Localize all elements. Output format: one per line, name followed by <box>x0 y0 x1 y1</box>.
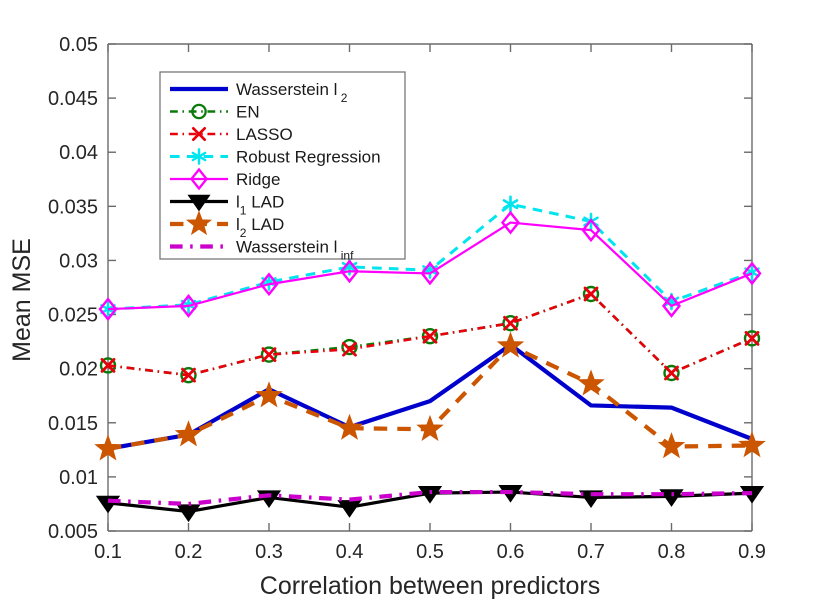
x-tick-label: 0.4 <box>336 541 364 563</box>
chart-background <box>0 0 830 601</box>
legend-label-lasso: LASSO <box>236 125 293 144</box>
x-tick-label: 0.3 <box>255 541 283 563</box>
chart-legend: Wasserstein l 2ENLASSORobust RegressionR… <box>160 72 405 263</box>
y-tick-label: 0.035 <box>48 196 98 218</box>
legend-subscript: 2 <box>337 91 347 105</box>
legend-label-tail: LAD <box>246 215 284 234</box>
x-axis-title: Correlation between predictors <box>260 572 600 600</box>
x-tick-label: 0.9 <box>738 541 766 563</box>
mean-mse-line-chart: 0.0050.010.0150.020.0250.030.0350.040.04… <box>0 0 830 601</box>
y-tick-label: 0.015 <box>48 413 98 435</box>
chart-container: 0.0050.010.0150.020.0250.030.0350.040.04… <box>0 0 830 601</box>
y-axis-title: Mean MSE <box>8 238 36 362</box>
x-tick-label: 0.6 <box>497 541 525 563</box>
x-tick-label: 0.1 <box>94 541 122 563</box>
y-tick-label: 0.045 <box>48 88 98 110</box>
x-tick-label: 0.7 <box>577 541 605 563</box>
legend-label-ridge: Ridge <box>236 170 280 189</box>
y-tick-label: 0.01 <box>59 467 98 489</box>
y-tick-label: 0.02 <box>59 359 98 381</box>
y-tick-label: 0.05 <box>59 34 98 56</box>
legend-subscript: inf <box>337 249 354 263</box>
y-tick-label: 0.005 <box>48 521 98 543</box>
x-tick-label: 0.8 <box>658 541 686 563</box>
x-tick-label: 0.5 <box>416 541 444 563</box>
y-tick-label: 0.04 <box>59 142 98 164</box>
x-tick-label: 0.2 <box>175 541 203 563</box>
legend-label-tail: LAD <box>246 193 284 212</box>
legend-label-en: EN <box>236 103 260 122</box>
y-tick-label: 0.03 <box>59 250 98 272</box>
y-tick-label: 0.025 <box>48 305 98 327</box>
legend-label-robust-regression: Robust Regression <box>236 148 381 167</box>
